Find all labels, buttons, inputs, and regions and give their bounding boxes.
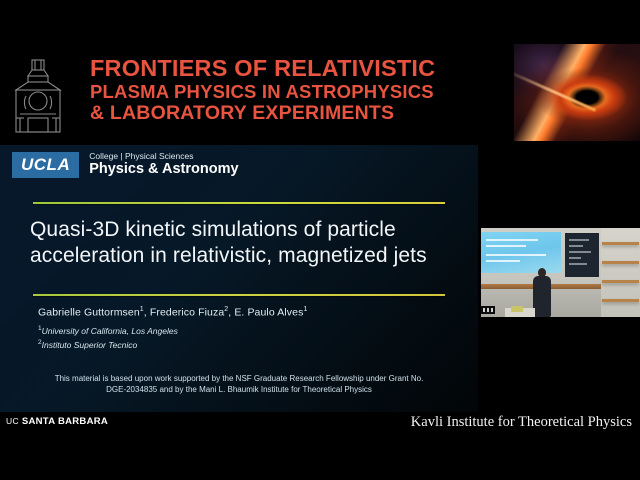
video-frame: FRONTIERS OF RELATIVISTIC PLASMA PHYSICS…: [0, 0, 640, 480]
wall-shelf: [602, 242, 639, 245]
wall-shelf: [602, 299, 639, 302]
projected-text-line: [486, 239, 538, 241]
slide-divider-top: [33, 202, 445, 204]
ucla-branding: UCLA College | Physical Sciences Physics…: [12, 151, 239, 178]
projected-text-line: [486, 254, 546, 256]
chalkboard: [565, 233, 599, 277]
wall-shelf: [602, 261, 639, 264]
accretion-disk-graphic: [514, 44, 640, 141]
banner-line-2: PLASMA PHYSICS IN ASTROPHYSICS: [90, 81, 490, 102]
chalk-mark: [569, 263, 587, 265]
overlay-mark: [491, 308, 493, 312]
ucla-department-name: Physics & Astronomy: [89, 161, 238, 178]
speaker-body: [533, 276, 551, 317]
presentation-slide: UCLA College | Physical Sciences Physics…: [0, 145, 478, 412]
funding-line-1: This material is based upon work support…: [0, 373, 478, 384]
royce-hall-building-icon: [8, 56, 68, 136]
affiliation-item: 1University of California, Los Angeles: [38, 323, 178, 337]
author-list: Gabrielle Guttormsen1, Frederico Fiuza2,…: [38, 303, 307, 320]
funding-line-2: DGE-2034835 and by the Mani L. Bhaumik I…: [0, 384, 478, 395]
ucla-college-line: College | Physical Sciences: [89, 151, 238, 161]
projected-text-line: [486, 260, 520, 262]
slide-divider-middle: [33, 294, 445, 296]
laptop: [511, 306, 523, 312]
ucsb-uc-text: UC: [6, 416, 19, 426]
projected-text-line: [486, 245, 526, 247]
footer-bar: UC SANTA BARBARA Kavli Institute for The…: [0, 412, 640, 480]
chalk-mark: [569, 245, 583, 247]
ucsb-logo: UC SANTA BARBARA: [6, 416, 108, 427]
affiliation-text: Instituto Superior Tecnico: [42, 340, 138, 350]
projection-screen: [481, 232, 561, 273]
ucsb-name-text: SANTA BARBARA: [22, 416, 108, 427]
banner-line-1: FRONTIERS OF RELATIVISTIC: [90, 56, 490, 81]
chalk-mark: [569, 257, 581, 259]
banner-title-block: FRONTIERS OF RELATIVISTIC PLASMA PHYSICS…: [90, 56, 490, 124]
slide-title: Quasi-3D kinetic simulations of particle…: [30, 217, 450, 269]
banner-line-3: & LABORATORY EXPERIMENTS: [90, 102, 490, 124]
video-overlay-clipped-edge: [481, 306, 495, 314]
black-hole-accretion-disk-jet-illustration: [514, 44, 640, 141]
kavli-institute-label: Kavli Institute for Theoretical Physics: [411, 414, 632, 431]
wall-shelf: [602, 280, 639, 283]
speaker-lecture-hall-video-feed: [481, 228, 640, 317]
ucla-department-block: College | Physical Sciences Physics & As…: [89, 151, 238, 178]
funding-acknowledgment: This material is based upon work support…: [0, 373, 478, 395]
ucla-logo-badge: UCLA: [12, 152, 79, 178]
chalk-mark: [569, 251, 591, 253]
chalk-mark: [569, 239, 589, 241]
overlay-mark: [483, 308, 485, 312]
affiliation-text: University of California, Los Angeles: [42, 326, 178, 336]
conference-banner: FRONTIERS OF RELATIVISTIC PLASMA PHYSICS…: [0, 40, 500, 145]
affiliation-item: 2Instituto Superior Tecnico: [38, 337, 178, 351]
overlay-mark: [487, 308, 489, 312]
affiliation-list: 1University of California, Los Angeles 2…: [38, 323, 178, 352]
